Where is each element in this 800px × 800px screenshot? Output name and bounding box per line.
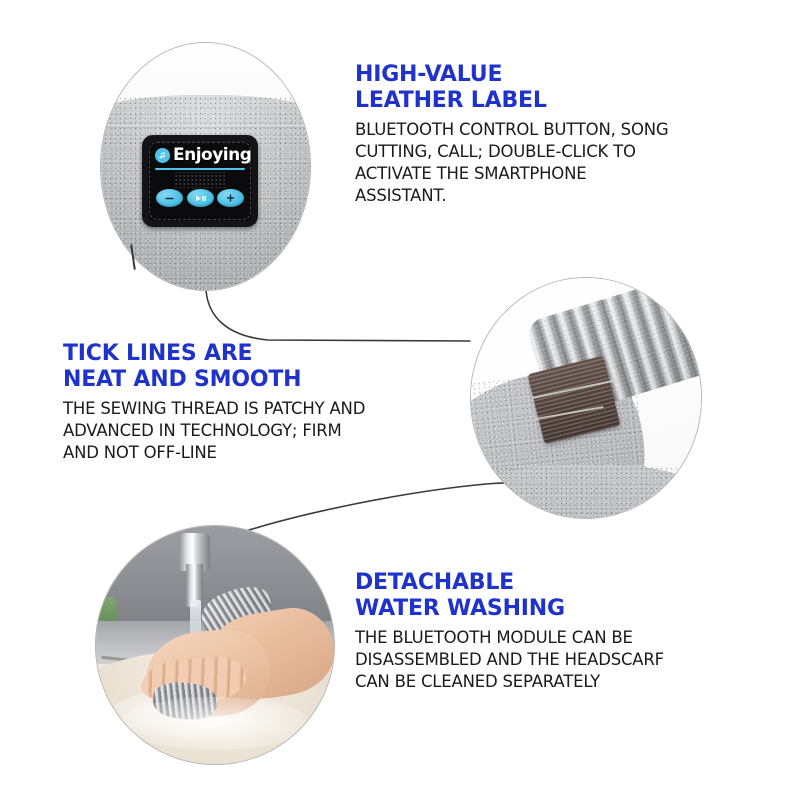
music-note-icon: [155, 148, 170, 163]
feature-image-water-washing: [95, 525, 335, 765]
volume-down-button[interactable]: [156, 189, 183, 207]
feature-heading: TICK LINES ARE NEAT AND SMOOTH: [63, 341, 408, 393]
feature-description: THE SEWING THREAD IS PATCHY AND ADVANCED…: [63, 398, 408, 464]
infographic-page: Enjoying: [0, 0, 800, 800]
module-divider: [155, 168, 245, 170]
speaker-grille: [175, 172, 225, 188]
feature-image-tick-lines: [470, 277, 702, 519]
feature-description: BLUETOOTH CONTROL BUTTON, SONG CUTTING, …: [355, 119, 725, 207]
feature-heading: HIGH-VALUE LEATHER LABEL: [355, 62, 725, 114]
feature-heading: DETACHABLE WATER WASHING: [355, 570, 730, 622]
module-brand-label: Enjoying: [173, 147, 251, 164]
soap-foam: [120, 697, 310, 749]
feature-text-tick-lines: TICK LINES ARE NEAT AND SMOOTH THE SEWIN…: [63, 341, 408, 464]
volume-up-button[interactable]: [217, 189, 244, 207]
headband-seam: [100, 125, 311, 128]
fabric-wedge-lower: [470, 465, 702, 519]
feature-description: THE BLUETOOTH MODULE CAN BE DISASSEMBLED…: [355, 627, 730, 693]
play-pause-button[interactable]: [187, 189, 214, 207]
feature-text-leather-label: HIGH-VALUE LEATHER LABEL BLUETOOTH CONTR…: [355, 62, 725, 207]
connector-circle1-to-circle2: [206, 290, 470, 341]
feature-text-water-washing: DETACHABLE WATER WASHING THE BLUETOOTH M…: [355, 570, 730, 693]
bluetooth-module-patch[interactable]: Enjoying: [142, 135, 258, 227]
